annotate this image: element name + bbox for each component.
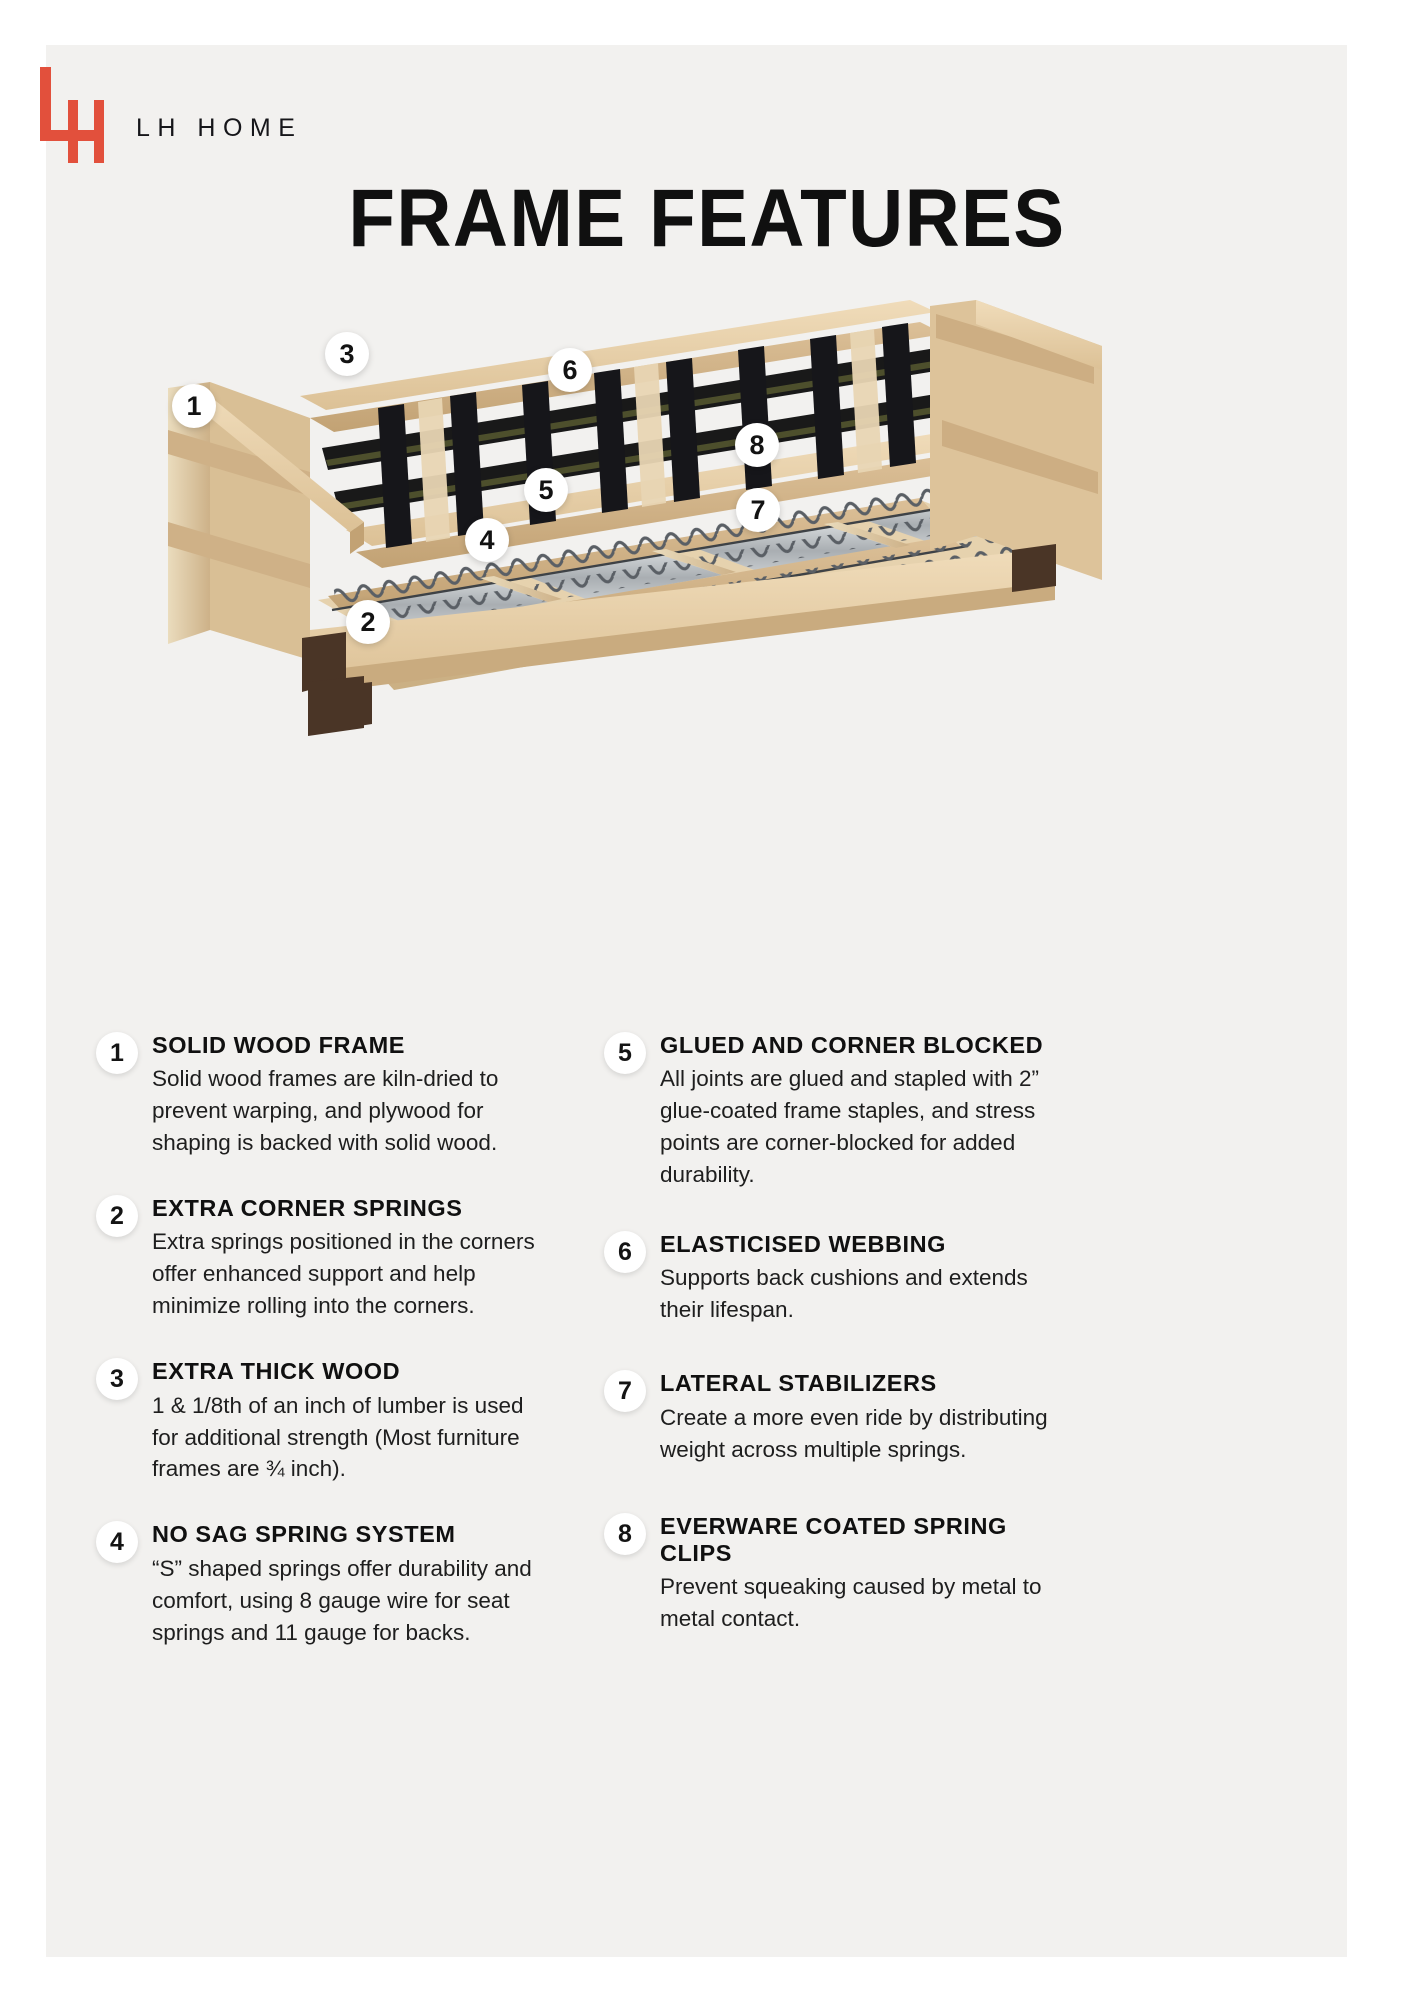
feature-heading-4: NO SAG SPRING SYSTEM: [152, 1521, 552, 1547]
feature-item-7: 7 LATERAL STABILIZERS Create a more even…: [604, 1368, 1060, 1465]
feature-badge-2: 2: [96, 1195, 138, 1237]
feature-column-left: 1 SOLID WOOD FRAME Solid wood frames are…: [96, 1030, 552, 1649]
feature-body-7: Create a more even ride by distributing …: [660, 1402, 1060, 1466]
photo-marker-3[interactable]: 3: [325, 332, 369, 376]
feature-heading-5: GLUED AND CORNER BLOCKED: [660, 1032, 1060, 1058]
feature-item-5: 5 GLUED AND CORNER BLOCKED All joints ar…: [604, 1030, 1060, 1191]
feature-badge-8: 8: [604, 1513, 646, 1555]
feature-heading-2: EXTRA CORNER SPRINGS: [152, 1195, 552, 1221]
brand-wordmark: LH HOME: [136, 114, 302, 143]
feature-item-4: 4 NO SAG SPRING SYSTEM “S” shaped spring…: [96, 1519, 552, 1648]
photo-marker-2[interactable]: 2: [346, 600, 390, 644]
feature-badge-7: 7: [604, 1370, 646, 1412]
feature-item-8: 8 EVERWARE COATED SPRING CLIPS Prevent s…: [604, 1511, 1060, 1635]
feature-item-1: 1 SOLID WOOD FRAME Solid wood frames are…: [96, 1030, 552, 1159]
feature-item-3: 3 EXTRA THICK WOOD 1 & 1/8th of an inch …: [96, 1356, 552, 1485]
right-arm: [930, 300, 1102, 580]
front-foot: [308, 676, 364, 736]
feature-body-6: Supports back cushions and extends their…: [660, 1262, 1060, 1326]
feature-item-6: 6 ELASTICISED WEBBING Supports back cush…: [604, 1229, 1060, 1326]
photo-marker-4[interactable]: 4: [465, 518, 509, 562]
frame-photo: 1 2 3 4 5 6 7 8: [150, 300, 1150, 740]
feature-list: 1 SOLID WOOD FRAME Solid wood frames are…: [96, 1030, 1326, 1649]
photo-marker-8[interactable]: 8: [735, 423, 779, 467]
feature-body-1: Solid wood frames are kiln-dried to prev…: [152, 1063, 552, 1159]
photo-marker-6[interactable]: 6: [548, 348, 592, 392]
feature-heading-6: ELASTICISED WEBBING: [660, 1231, 1060, 1257]
feature-heading-1: SOLID WOOD FRAME: [152, 1032, 552, 1058]
feature-item-2: 2 EXTRA CORNER SPRINGS Extra springs pos…: [96, 1193, 552, 1322]
photo-marker-5[interactable]: 5: [524, 468, 568, 512]
feature-badge-5: 5: [604, 1032, 646, 1074]
feature-heading-8: EVERWARE COATED SPRING CLIPS: [660, 1513, 1060, 1566]
feature-badge-6: 6: [604, 1231, 646, 1273]
feature-badge-4: 4: [96, 1521, 138, 1563]
page-title: FRAME FEATURES: [49, 178, 1364, 260]
feature-badge-1: 1: [96, 1032, 138, 1074]
feature-heading-3: EXTRA THICK WOOD: [152, 1358, 552, 1384]
feature-body-5: All joints are glued and stapled with 2”…: [660, 1063, 1060, 1191]
infographic-page: LH HOME FRAME FEATURES: [0, 0, 1414, 2000]
feature-body-3: 1 & 1/8th of an inch of lumber is used f…: [152, 1390, 552, 1486]
feature-body-2: Extra springs positioned in the corners …: [152, 1226, 552, 1322]
feature-column-right: 5 GLUED AND CORNER BLOCKED All joints ar…: [604, 1030, 1060, 1649]
lh-monogram-icon: [38, 67, 110, 163]
photo-marker-7[interactable]: 7: [736, 488, 780, 532]
feature-body-8: Prevent squeaking caused by metal to met…: [660, 1571, 1060, 1635]
photo-marker-1[interactable]: 1: [172, 384, 216, 428]
feature-body-4: “S” shaped springs offer durability and …: [152, 1553, 552, 1649]
feature-badge-3: 3: [96, 1358, 138, 1400]
feature-heading-7: LATERAL STABILIZERS: [660, 1370, 1060, 1396]
brand-logo: LH HOME: [38, 60, 302, 170]
